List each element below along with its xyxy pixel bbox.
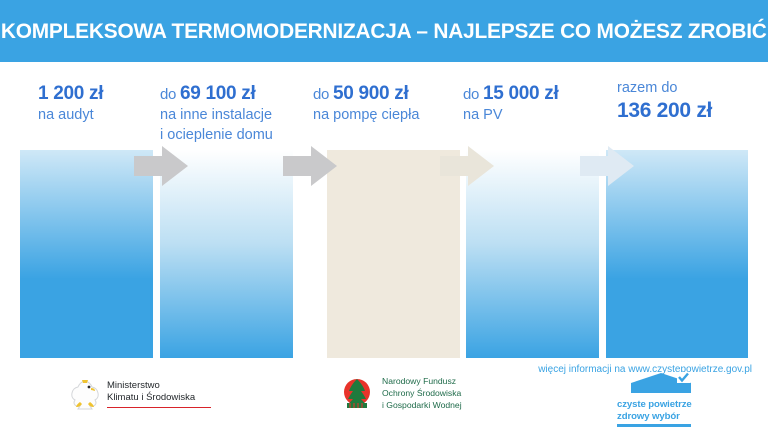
program-line-1: czyste powietrze (617, 399, 721, 411)
arrow-right-icon-1 (134, 144, 188, 188)
amount-sub-insulation-2: i ocieplenie domu (160, 127, 273, 144)
logo-czyste-powietrze: czyste powietrze zdrowy wybór (617, 372, 721, 427)
amount-labels-row: 1 200 zł na audyt do 69 100 zł na inne i… (0, 62, 768, 150)
amount-value-insulation: do 69 100 zł (160, 83, 273, 105)
polish-eagle-icon (70, 378, 100, 410)
amount-value-heatpump: do 50 900 zł (313, 83, 419, 105)
ministry-line-1: Ministerstwo (107, 380, 211, 392)
program-underline (617, 424, 691, 427)
nfosigw-line-1: Narodowy Fundusz (382, 376, 462, 388)
nfosigw-line-3: i Gospodarki Wodnej (382, 400, 462, 412)
logo-ministry-climate: Ministerstwo Klimatu i Środowiska (70, 378, 211, 410)
header-banner: KOMPLEKSOWA TERMOMODERNIZACJA – NAJLEPSZ… (0, 0, 768, 62)
amount-sub-audit-1: na audyt (38, 107, 103, 124)
page-title: KOMPLEKSOWA TERMOMODERNIZACJA – NAJLEPSZ… (1, 19, 767, 44)
house-check-icon (617, 372, 721, 394)
total-amount: 136 200 zł (617, 99, 712, 124)
ministry-text: Ministerstwo Klimatu i Środowiska (107, 380, 211, 408)
amount-label-audit: 1 200 zł na audyt (38, 83, 103, 125)
program-line-2: zdrowy wybór (617, 411, 721, 423)
ministry-red-rule (107, 407, 211, 409)
amount-sub-pv-1: na PV (463, 107, 558, 124)
illustration-strip (0, 150, 768, 358)
logo-nfosigw: Narodowy Fundusz Ochrony Środowiska i Go… (340, 376, 462, 412)
amount-label-insulation: do 69 100 zł na inne instalacje i ociepl… (160, 83, 273, 144)
amount-sub-insulation-1: na inne instalacje (160, 107, 273, 124)
amount-label-heatpump: do 50 900 zł na pompę ciepła (313, 83, 419, 125)
amount-value-pv: do 15 000 zł (463, 83, 558, 105)
amount-label-pv: do 15 000 zł na PV (463, 83, 558, 125)
arrow-right-icon-2 (283, 144, 337, 188)
footer: więcej informacji na www.czystepowietrze… (0, 358, 768, 432)
nfosigw-line-2: Ochrony Środowiska (382, 388, 462, 400)
arrow-right-icon-3 (440, 144, 494, 188)
amount-sub-heatpump-1: na pompę ciepła (313, 107, 419, 124)
nfosigw-tree-icon (340, 377, 374, 411)
amount-value-audit: 1 200 zł (38, 83, 103, 105)
ministry-line-2: Klimatu i Środowiska (107, 392, 211, 404)
amount-label-total: razem do 136 200 zł (617, 80, 712, 124)
total-prefix: razem do (617, 80, 712, 97)
nfosigw-text: Narodowy Fundusz Ochrony Środowiska i Go… (382, 376, 462, 412)
arrow-right-icon-4 (580, 144, 634, 188)
